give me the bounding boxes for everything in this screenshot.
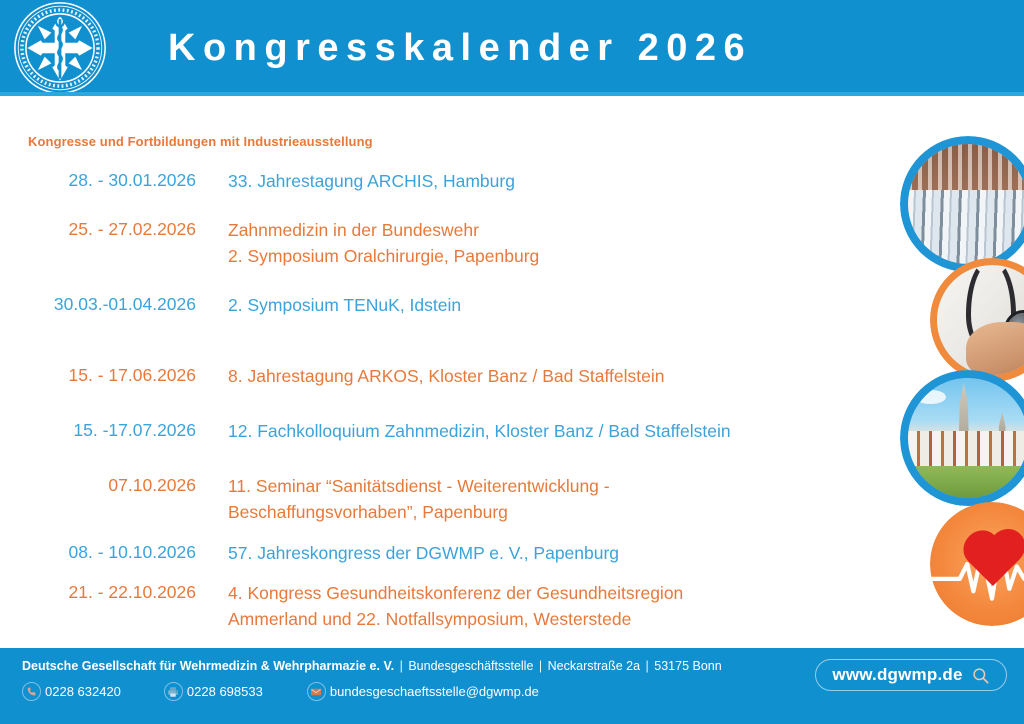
phone-contact[interactable]: 0228 632420 [22, 682, 121, 701]
page-footer: Deutsche Gesellschaft für Wehrmedizin & … [0, 648, 1024, 724]
event-date: 28. - 30.01.2026 [0, 168, 196, 192]
list-item: 30.03.-01.04.2026 2. Symposium TENuK, Id… [0, 292, 880, 318]
list-item: 08. - 10.10.2026 57. Jahreskongress der … [0, 540, 880, 566]
event-title-line: Beschaffungsvorhaben”, Papenburg [228, 499, 880, 525]
footer-address-line: Deutsche Gesellschaft für Wehrmedizin & … [22, 659, 722, 673]
city-address: 53175 Bonn [654, 659, 721, 673]
footer-contacts: 0228 632420 0228 698533 [22, 682, 539, 701]
heart-ecg-photo [930, 502, 1024, 626]
street-address: Neckarstraße 2a [548, 659, 640, 673]
list-item: 07.10.2026 11. Seminar “Sanitätsdienst -… [0, 473, 880, 525]
fax-number: 0228 698533 [187, 684, 263, 699]
phone-number: 0228 632420 [45, 684, 121, 699]
kongresskalender-poster: Kongresskalender 2026 Kongresse und Fort… [0, 0, 1024, 724]
subtitle: Kongresse und Fortbildungen mit Industri… [28, 134, 373, 149]
event-date: 25. - 27.02.2026 [0, 217, 196, 241]
photo-ring-blue [900, 370, 1024, 506]
exhibition-hall-photo [900, 136, 1024, 272]
photo-ring-blue [900, 136, 1024, 272]
list-item: 25. - 27.02.2026 Zahnmedizin in der Bund… [0, 217, 880, 269]
congress-schedule-list: 28. - 30.01.2026 33. Jahrestagung ARCHIS… [0, 168, 880, 632]
list-item: 28. - 30.01.2026 33. Jahrestagung ARCHIS… [0, 168, 880, 194]
phone-icon [22, 682, 41, 701]
event-date: 08. - 10.10.2026 [0, 540, 196, 564]
header-underline [0, 92, 1024, 96]
event-date: 07.10.2026 [0, 473, 196, 497]
dgwmp-seal-logo [0, 0, 120, 96]
event-title: 33. Jahrestagung ARCHIS, Hamburg [196, 168, 880, 194]
event-title-line: 57. Jahreskongress der DGWMP e. V., Pape… [228, 540, 880, 566]
separator: | [398, 659, 405, 673]
email-contact[interactable]: bundesgeschaeftsstelle@dgwmp.de [307, 682, 539, 701]
event-title-line: 33. Jahrestagung ARCHIS, Hamburg [228, 168, 880, 194]
fax-icon [164, 682, 183, 701]
event-title-line: 2. Symposium Oralchirurgie, Papenburg [228, 243, 880, 269]
event-date: 15. - 17.06.2026 [0, 363, 196, 387]
doctor-stethoscope-photo [930, 258, 1024, 382]
event-title-line: 12. Fachkolloquium Zahnmedizin, Kloster … [228, 418, 880, 444]
organisation-name: Deutsche Gesellschaft für Wehrmedizin & … [22, 659, 394, 673]
event-date: 21. - 22.10.2026 [0, 580, 196, 604]
event-title: 4. Kongress Gesundheitskonferenz der Ges… [196, 580, 880, 632]
separator: | [537, 659, 544, 673]
list-item: 15. -17.07.2026 12. Fachkolloquium Zahnm… [0, 418, 880, 444]
event-date: 15. -17.07.2026 [0, 418, 196, 442]
event-title: Zahnmedizin in der Bundeswehr 2. Symposi… [196, 217, 880, 269]
heart-ecg-image [930, 502, 1024, 626]
event-title: 2. Symposium TENuK, Idstein [196, 292, 880, 318]
city-cathedral-photo [900, 370, 1024, 506]
website-url: www.dgwmp.de [832, 665, 962, 685]
list-item: 21. - 22.10.2026 4. Kongress Gesundheits… [0, 580, 880, 632]
event-title: 8. Jahrestagung ARKOS, Kloster Banz / Ba… [196, 363, 880, 389]
envelope-icon [307, 682, 326, 701]
event-title-line: 8. Jahrestagung ARKOS, Kloster Banz / Ba… [228, 363, 880, 389]
event-title: 57. Jahreskongress der DGWMP e. V., Pape… [196, 540, 880, 566]
office-label: Bundesgeschäftsstelle [408, 659, 533, 673]
event-title-line: 11. Seminar “Sanitätsdienst - Weiterentw… [228, 473, 880, 499]
fax-contact: 0228 698533 [164, 682, 263, 701]
photo-circle-column [900, 0, 1024, 650]
event-title-line: Ammerland und 22. Notfallsymposium, West… [228, 606, 880, 632]
event-date: 30.03.-01.04.2026 [0, 292, 196, 316]
event-title: 12. Fachkolloquium Zahnmedizin, Kloster … [196, 418, 880, 444]
event-title-line: 2. Symposium TENuK, Idstein [228, 292, 880, 318]
event-title-line: Zahnmedizin in der Bundeswehr [228, 217, 880, 243]
page-header: Kongresskalender 2026 [0, 0, 1024, 96]
event-title-line: 4. Kongress Gesundheitskonferenz der Ges… [228, 580, 880, 606]
page-title: Kongresskalender 2026 [168, 27, 752, 70]
separator: | [644, 659, 651, 673]
email-address: bundesgeschaeftsstelle@dgwmp.de [330, 684, 539, 699]
search-icon [971, 666, 990, 685]
list-item: 15. - 17.06.2026 8. Jahrestagung ARKOS, … [0, 363, 880, 389]
website-button[interactable]: www.dgwmp.de [815, 659, 1007, 691]
event-title: 11. Seminar “Sanitätsdienst - Weiterentw… [196, 473, 880, 525]
